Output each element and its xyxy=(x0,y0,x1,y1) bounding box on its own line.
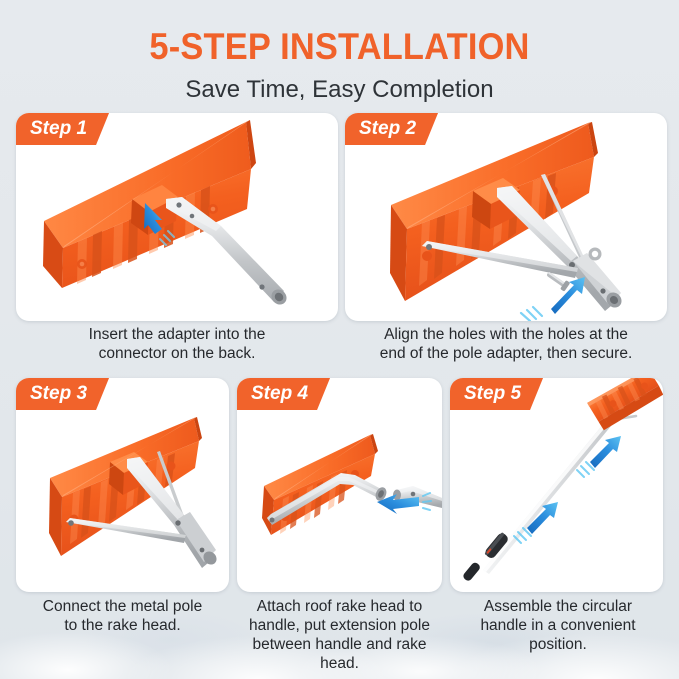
step-caption-4: Attach roof rake head to handle, put ext… xyxy=(232,598,447,674)
step-4-caption-line-3: between handle and rake head. xyxy=(232,636,447,674)
step-3-caption-line-2: to the rake head. xyxy=(12,617,233,636)
step-card-1[interactable]: Step 1 xyxy=(16,113,338,321)
step-card-5[interactable]: Step 5 xyxy=(450,378,663,592)
step-badge-4: Step 4 xyxy=(237,378,330,410)
step-5-caption-line-3: position. xyxy=(448,636,668,655)
step-caption-2: Align the holes with the holes at the en… xyxy=(345,326,667,364)
step-5-artwork xyxy=(450,378,663,592)
step-card-4[interactable]: Step 4 xyxy=(237,378,442,592)
step-badge-3: Step 3 xyxy=(16,378,109,410)
step-caption-1: Insert the adapter into the connector on… xyxy=(16,326,338,364)
step-card-3[interactable]: Step 3 xyxy=(16,378,229,592)
step-4-artwork xyxy=(237,378,442,592)
step-4-caption-line-2: handle, put extension pole xyxy=(232,617,447,636)
step-1-caption-line-2: connector on the back. xyxy=(16,345,338,364)
step-badge-1: Step 1 xyxy=(16,113,109,145)
header: 5-STEP INSTALLATION Save Time, Easy Comp… xyxy=(0,0,679,104)
step-caption-5: Assemble the circular handle in a conven… xyxy=(448,598,668,655)
step-caption-3: Connect the metal pole to the rake head. xyxy=(12,598,233,636)
step-3-artwork xyxy=(16,378,229,592)
step-badge-2: Step 2 xyxy=(345,113,438,145)
step-badge-5: Step 5 xyxy=(450,378,543,410)
page-title: 5-STEP INSTALLATION xyxy=(24,26,655,68)
step-2-caption-line-2: end of the pole adapter, then secure. xyxy=(345,345,667,364)
step-card-2[interactable]: Step 2 xyxy=(345,113,667,321)
step-3-caption-line-1: Connect the metal pole xyxy=(12,598,233,617)
page-subtitle: Save Time, Easy Completion xyxy=(0,76,679,104)
step-4-caption-line-1: Attach roof rake head to xyxy=(232,598,447,617)
step-2-caption-line-1: Align the holes with the holes at the xyxy=(345,326,667,345)
step-5-caption-line-1: Assemble the circular xyxy=(448,598,668,617)
step-5-caption-line-2: handle in a convenient xyxy=(448,617,668,636)
step-1-caption-line-1: Insert the adapter into the xyxy=(16,326,338,345)
